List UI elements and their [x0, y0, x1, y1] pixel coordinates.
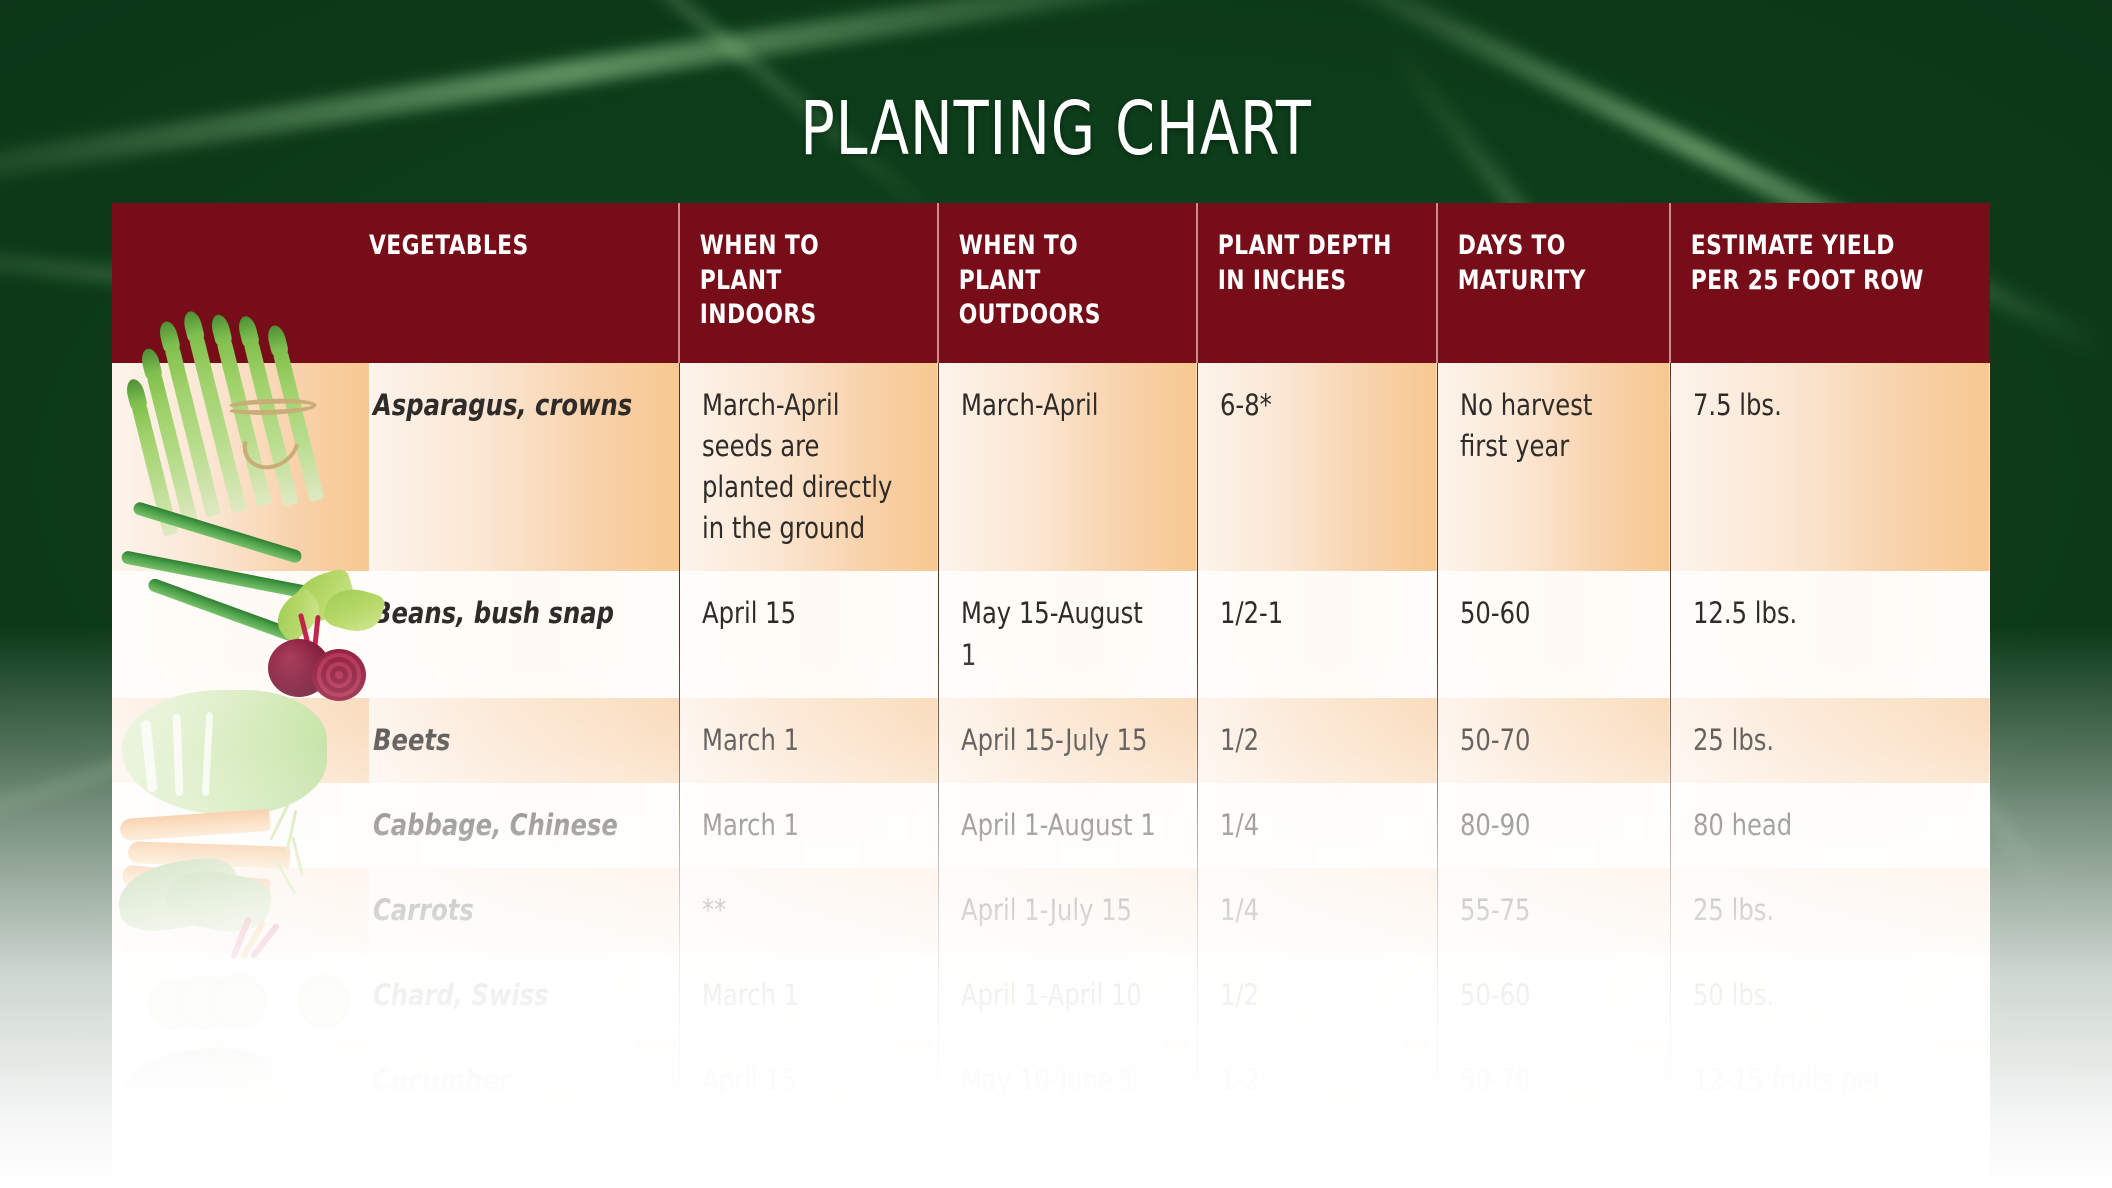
- cell-outdoors: May 10-June 1: [938, 1038, 1197, 1164]
- cell-outdoors: April 1-August 1: [938, 1165, 1197, 1188]
- header-line: PLANT: [700, 265, 782, 296]
- header-line: PLANT: [959, 265, 1041, 296]
- cell-indoors: April 15: [679, 1038, 938, 1164]
- header-line: PLANT DEPTH: [1218, 230, 1392, 261]
- cell-depth: 6-8*: [1197, 363, 1437, 572]
- column-header-image: [112, 203, 369, 363]
- column-header-when-to-plant-outdoors: WHEN TO PLANT OUTDOORS: [938, 203, 1197, 363]
- cell-vegetable: Cabbage, Chinese: [369, 783, 679, 868]
- cell-indoors: March 1: [679, 783, 938, 868]
- row-image-cell: [112, 698, 369, 783]
- header-line: INDOORS: [700, 299, 817, 330]
- column-header-days-to-maturity: DAYS TO MATURITY: [1437, 203, 1670, 363]
- table-row: Cabbage, Chinese March 1 April 1-August …: [112, 783, 1990, 868]
- cell-vegetable: Chard, Swiss: [369, 953, 679, 1038]
- cell-vegetable: Carrots: [369, 868, 679, 953]
- cell-maturity: 55-75: [1437, 868, 1670, 953]
- cell-yield: 25 lbs.: [1670, 698, 1990, 783]
- cell-maturity: 50-60: [1437, 571, 1670, 697]
- row-image-cell: [112, 1165, 369, 1188]
- cell-indoors: March-April seeds are planted directly i…: [679, 363, 938, 572]
- cell-yield: 7.5 lbs.: [1670, 363, 1990, 572]
- cell-depth: 1/2-1: [1197, 571, 1437, 697]
- cell-indoors: March 1: [679, 1165, 938, 1188]
- header-line: OUTDOORS: [959, 299, 1101, 330]
- header-line: ESTIMATE YIELD: [1691, 230, 1895, 261]
- row-image-cell: [112, 868, 369, 953]
- column-header-when-to-plant-indoors: WHEN TO PLANT INDOORS: [679, 203, 938, 363]
- header-line: VEGETABLES: [369, 230, 529, 261]
- table-header-row: VEGETABLES WHEN TO PLANT INDOORS WHEN TO…: [112, 203, 1990, 363]
- row-image-cell: [112, 953, 369, 1038]
- cell-maturity: No harvest first year: [1437, 363, 1670, 572]
- header-line: IN INCHES: [1218, 265, 1347, 296]
- column-header-estimate-yield: ESTIMATE YIELD PER 25 FOOT ROW: [1670, 203, 1990, 363]
- cell-vegetable: Asparagus, crowns: [369, 363, 679, 572]
- cell-yield: 75 lbs.: [1670, 1165, 1990, 1188]
- page-title: PLANTING CHART: [148, 86, 1964, 172]
- header-line: PER 25 FOOT ROW: [1691, 265, 1924, 296]
- row-image-cell: [112, 571, 369, 697]
- cell-yield: 25 lbs.: [1670, 868, 1990, 953]
- cell-indoors: April 15: [679, 571, 938, 697]
- table-row: Carrots ** April 1-July 15 1/4 55-75 25 …: [112, 868, 1990, 953]
- cell-yield: 50 lbs.: [1670, 953, 1990, 1038]
- cell-depth: 1-2: [1197, 1038, 1437, 1164]
- cell-vegetable: Cucumber: [369, 1038, 679, 1164]
- row-image-cell: [112, 1038, 369, 1164]
- cell-maturity: 50-70: [1437, 698, 1670, 783]
- cell-vegetable: Beets: [369, 698, 679, 783]
- row-image-cell: [112, 363, 369, 572]
- cell-outdoors: May 15-August 1: [938, 571, 1197, 697]
- table-row: Cucumber April 15 May 10-June 1 1-2 50-7…: [112, 1038, 1990, 1164]
- cell-indoors: **: [679, 868, 938, 953]
- header-line: MATURITY: [1458, 265, 1586, 296]
- cell-depth: 1/4: [1197, 868, 1437, 953]
- cell-yield: 80 head: [1670, 783, 1990, 868]
- cell-maturity: 50-60: [1437, 953, 1670, 1038]
- cell-outdoors: April 1-April 10: [938, 953, 1197, 1038]
- cell-indoors: March 1: [679, 953, 938, 1038]
- cell-indoors: March 1: [679, 698, 938, 783]
- cell-vegetable: Beans, bush snap: [369, 571, 679, 697]
- cell-outdoors: April 15-July 15: [938, 698, 1197, 783]
- column-header-vegetables: VEGETABLES: [369, 203, 679, 363]
- header-line: WHEN TO: [700, 230, 819, 261]
- cell-vegetable: Kale: [369, 1165, 679, 1188]
- table-row: Asparagus, crowns March-April seeds are …: [112, 363, 1990, 572]
- cell-maturity: 50-70: [1437, 1165, 1670, 1188]
- cell-outdoors: April 1-July 15: [938, 868, 1197, 953]
- column-header-plant-depth: PLANT DEPTH IN INCHES: [1197, 203, 1437, 363]
- table-row: Chard, Swiss March 1 April 1-April 10 1/…: [112, 953, 1990, 1038]
- cell-depth: 1/4: [1197, 783, 1437, 868]
- planting-chart-table: VEGETABLES WHEN TO PLANT INDOORS WHEN TO…: [112, 203, 1990, 1188]
- table-row: Kale March 1 April 1-August 1 1/2 50-70 …: [112, 1165, 1990, 1188]
- cell-depth: 1/2: [1197, 1165, 1437, 1188]
- table-row: Beets March 1 April 15-July 15 1/2 50-70…: [112, 698, 1990, 783]
- cell-maturity: 50-70: [1437, 1038, 1670, 1164]
- header-line: WHEN TO: [959, 230, 1078, 261]
- cell-depth: 1/2: [1197, 953, 1437, 1038]
- table-row: Beans, bush snap April 15 May 15-August …: [112, 571, 1990, 697]
- cell-yield: 12.5 lbs.: [1670, 571, 1990, 697]
- cell-outdoors: March-April: [938, 363, 1197, 572]
- cell-yield: 12-15 fruits per plant: [1670, 1038, 1990, 1164]
- cell-maturity: 80-90: [1437, 783, 1670, 868]
- row-image-cell: [112, 783, 369, 868]
- header-line: DAYS TO: [1458, 230, 1566, 261]
- cell-outdoors: April 1-August 1: [938, 783, 1197, 868]
- cell-depth: 1/2: [1197, 698, 1437, 783]
